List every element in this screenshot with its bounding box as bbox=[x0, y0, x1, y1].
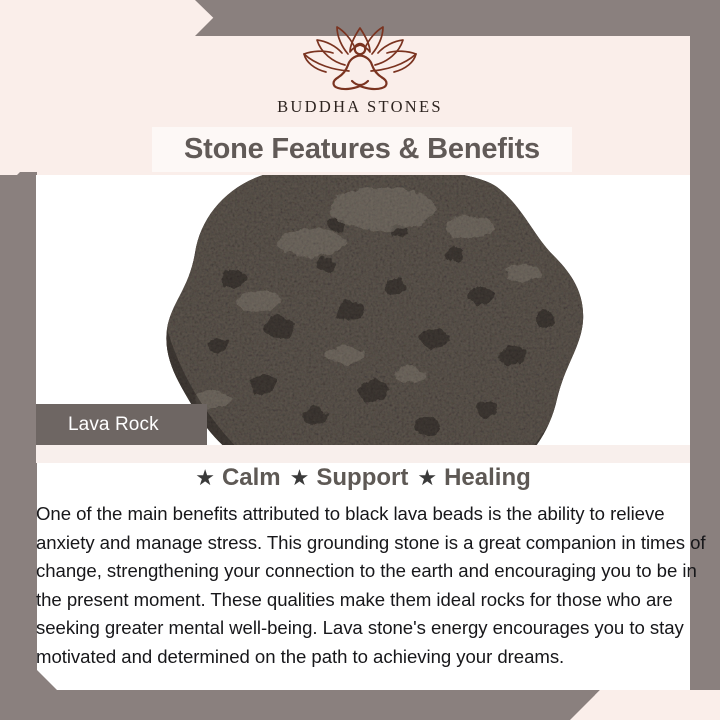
brand-logo: BUDDHA STONES bbox=[0, 18, 720, 117]
infographic-page: BUDDHA STONES Stone Features & Benefits bbox=[0, 0, 720, 720]
star-icon: ★ bbox=[195, 467, 215, 489]
photo-caption: Lava Rock bbox=[36, 404, 207, 446]
lotus-meditation-figure-icon bbox=[276, 18, 444, 94]
benefit-item-calm: ★ Calm bbox=[195, 466, 280, 490]
left-gray-bar bbox=[0, 172, 37, 692]
photo-caption-text: Lava Rock bbox=[68, 414, 159, 436]
benefit-label: Healing bbox=[444, 466, 531, 490]
star-icon: ★ bbox=[417, 467, 437, 489]
description-paragraph: One of the main benefits attributed to b… bbox=[36, 500, 708, 672]
star-icon: ★ bbox=[290, 467, 310, 489]
page-title: Stone Features & Benefits bbox=[152, 127, 572, 172]
section-divider bbox=[36, 445, 690, 463]
bottom-gray-bar bbox=[0, 690, 600, 720]
brand-name: BUDDHA STONES bbox=[277, 97, 443, 117]
page-title-text: Stone Features & Benefits bbox=[184, 133, 540, 166]
benefit-label: Calm bbox=[222, 466, 281, 490]
benefit-item-support: ★ Support bbox=[290, 466, 409, 490]
benefits-row: ★ Calm ★ Support ★ Healing bbox=[36, 466, 690, 490]
benefit-item-healing: ★ Healing bbox=[417, 466, 530, 490]
benefit-label: Support bbox=[316, 466, 408, 490]
